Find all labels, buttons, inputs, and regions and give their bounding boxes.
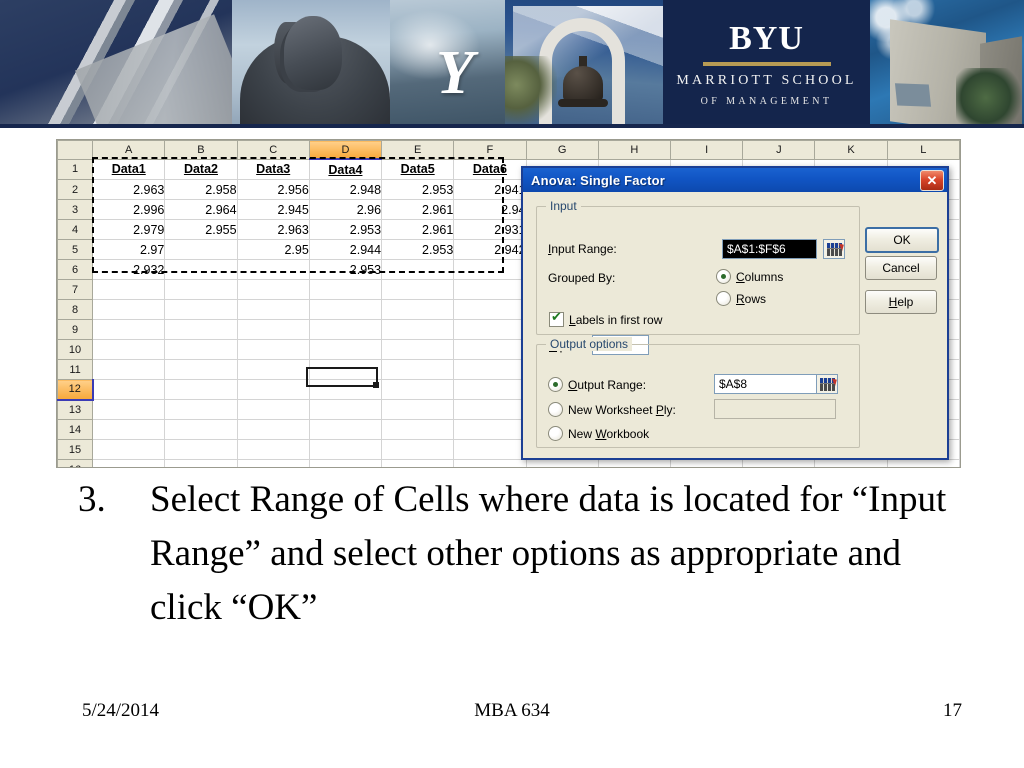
cell-D16[interactable] bbox=[309, 460, 381, 469]
cell-C13[interactable] bbox=[237, 400, 309, 420]
cell-B3[interactable]: 2.964 bbox=[165, 200, 237, 220]
cell-B10[interactable] bbox=[165, 340, 237, 360]
cell-C10[interactable] bbox=[237, 340, 309, 360]
column-header-g[interactable]: G bbox=[526, 141, 598, 160]
cell-B11[interactable] bbox=[165, 360, 237, 380]
cell-E7[interactable] bbox=[382, 280, 454, 300]
dialog-body: Input Input Range: $A$1:$F$6 Grouped By:… bbox=[523, 192, 947, 460]
cell-E9[interactable] bbox=[382, 320, 454, 340]
cell-E1[interactable]: Data5 bbox=[382, 159, 454, 180]
cell-A16[interactable] bbox=[93, 460, 165, 469]
byu-marriott-logo: BYU MARRIOTT SCHOOL OF MANAGEMENT bbox=[663, 0, 870, 128]
radio-new-worksheet-ply-label: New Worksheet Ply: bbox=[568, 403, 676, 417]
cell-C1[interactable]: Data3 bbox=[237, 159, 309, 180]
row-header-6[interactable]: 6 bbox=[58, 260, 93, 280]
y-mountain-glyph: Y bbox=[436, 42, 474, 104]
cell-B4[interactable]: 2.955 bbox=[165, 220, 237, 240]
cell-C3[interactable]: 2.945 bbox=[237, 200, 309, 220]
row-header-11[interactable]: 11 bbox=[58, 360, 93, 380]
help-button[interactable]: Help bbox=[865, 290, 937, 314]
cell-H16[interactable] bbox=[598, 460, 670, 469]
row-header-3[interactable]: 3 bbox=[58, 200, 93, 220]
cell-D15[interactable] bbox=[309, 440, 381, 460]
input-range-label: Input Range: bbox=[548, 242, 617, 256]
cell-B14[interactable] bbox=[165, 420, 237, 440]
cell-I16[interactable] bbox=[670, 460, 742, 469]
column-header-c[interactable]: C bbox=[237, 141, 309, 160]
cell-E3[interactable]: 2.961 bbox=[382, 200, 454, 220]
cell-D13[interactable] bbox=[309, 400, 381, 420]
radio-grouped-rows[interactable]: Rows bbox=[716, 291, 766, 306]
cell-E11[interactable] bbox=[382, 360, 454, 380]
statue-head-shape bbox=[284, 16, 342, 90]
footer-course: MBA 634 bbox=[0, 700, 1024, 722]
cell-D2[interactable]: 2.948 bbox=[309, 180, 381, 200]
column-header-a[interactable]: A bbox=[93, 141, 165, 160]
cell-D11[interactable] bbox=[309, 360, 381, 380]
cell-E15[interactable] bbox=[382, 440, 454, 460]
foliage bbox=[505, 56, 557, 128]
footer-page-number: 17 bbox=[943, 700, 962, 722]
cell-E12[interactable] bbox=[382, 380, 454, 400]
cell-F9[interactable] bbox=[454, 320, 526, 340]
bullet-number: 3. bbox=[78, 473, 150, 635]
new-worksheet-ply-field[interactable] bbox=[714, 399, 836, 419]
banner-photo-y-mountain: Y bbox=[390, 0, 505, 128]
cell-E2[interactable]: 2.953 bbox=[382, 180, 454, 200]
banner-bottom-rule bbox=[0, 124, 1024, 128]
cell-F1[interactable]: Data6 bbox=[454, 159, 526, 180]
bell-icon bbox=[563, 66, 603, 102]
cell-C4[interactable]: 2.963 bbox=[237, 220, 309, 240]
cell-G16[interactable] bbox=[526, 460, 598, 469]
column-header-l[interactable]: L bbox=[887, 141, 959, 160]
cell-C6[interactable] bbox=[237, 260, 309, 280]
building-window bbox=[895, 83, 931, 106]
cell-F2[interactable]: 2.941 bbox=[454, 180, 526, 200]
dialog-title-bar[interactable]: Anova: Single Factor ✕ bbox=[523, 168, 947, 192]
cell-F12[interactable] bbox=[454, 380, 526, 400]
ok-button[interactable]: OK bbox=[865, 227, 939, 253]
row-header-9[interactable]: 9 bbox=[58, 320, 93, 340]
column-header-e[interactable]: E bbox=[382, 141, 454, 160]
slide: Y BYU MARRIOTT SCHOOL OF MANAGEMENT bbox=[0, 0, 1024, 768]
cell-A15[interactable] bbox=[93, 440, 165, 460]
cell-A11[interactable] bbox=[93, 360, 165, 380]
cell-D9[interactable] bbox=[309, 320, 381, 340]
column-header-d[interactable]: D bbox=[309, 141, 381, 160]
radio-new-workbook[interactable]: New Workbook bbox=[548, 426, 649, 441]
cell-C14[interactable] bbox=[237, 420, 309, 440]
cell-C15[interactable] bbox=[237, 440, 309, 460]
cell-F14[interactable] bbox=[454, 420, 526, 440]
output-range-picker-icon[interactable] bbox=[816, 374, 838, 394]
row-header-13[interactable]: 13 bbox=[58, 400, 93, 420]
range-select-icon bbox=[820, 378, 835, 391]
radio-dot-icon bbox=[548, 402, 563, 417]
cell-E14[interactable] bbox=[382, 420, 454, 440]
cell-B9[interactable] bbox=[165, 320, 237, 340]
cell-F8[interactable] bbox=[454, 300, 526, 320]
logo-school-text: MARRIOTT SCHOOL bbox=[663, 73, 870, 90]
cell-L16[interactable] bbox=[887, 460, 959, 469]
bullet-text: Select Range of Cells where data is loca… bbox=[150, 473, 958, 635]
cell-A9[interactable] bbox=[93, 320, 165, 340]
logo-stack: BYU MARRIOTT SCHOOL OF MANAGEMENT bbox=[663, 22, 870, 107]
row-header-14[interactable]: 14 bbox=[58, 420, 93, 440]
select-all-corner[interactable] bbox=[58, 141, 93, 160]
building-tree bbox=[956, 68, 1022, 128]
row-header-15[interactable]: 15 bbox=[58, 440, 93, 460]
cell-A14[interactable] bbox=[93, 420, 165, 440]
cell-D6[interactable]: 2.953 bbox=[309, 260, 381, 280]
input-range-field[interactable]: $A$1:$F$6 bbox=[722, 239, 817, 259]
radio-grouped-columns-label: Columns bbox=[736, 270, 783, 284]
labels-in-first-row-label: Labels in first row bbox=[569, 313, 662, 327]
cell-A10[interactable] bbox=[93, 340, 165, 360]
radio-dot-icon bbox=[716, 291, 731, 306]
cell-J16[interactable] bbox=[743, 460, 815, 469]
cell-C5[interactable]: 2.95 bbox=[237, 240, 309, 260]
column-header-h[interactable]: H bbox=[598, 141, 670, 160]
input-range-picker-icon[interactable] bbox=[823, 239, 845, 259]
checkbox-check-icon bbox=[549, 312, 564, 327]
cell-B7[interactable] bbox=[165, 280, 237, 300]
cell-B13[interactable] bbox=[165, 400, 237, 420]
table-row: 16 bbox=[58, 460, 960, 469]
radio-output-range-label: Output Range: bbox=[568, 378, 646, 392]
slide-bullet: 3. Select Range of Cells where data is l… bbox=[78, 473, 958, 635]
logo-gold-rule bbox=[703, 62, 831, 66]
cell-E13[interactable] bbox=[382, 400, 454, 420]
cell-B8[interactable] bbox=[165, 300, 237, 320]
row-header-16[interactable]: 16 bbox=[58, 460, 93, 469]
cell-A8[interactable] bbox=[93, 300, 165, 320]
cell-B6[interactable] bbox=[165, 260, 237, 280]
radio-dot-icon bbox=[548, 426, 563, 441]
cell-D7[interactable] bbox=[309, 280, 381, 300]
logo-division-text: OF MANAGEMENT bbox=[663, 96, 870, 107]
banner-photo-architecture bbox=[0, 0, 232, 128]
cell-D4[interactable]: 2.953 bbox=[309, 220, 381, 240]
cell-F13[interactable] bbox=[454, 400, 526, 420]
banner-photo-campus-building bbox=[870, 0, 1024, 128]
cell-C8[interactable] bbox=[237, 300, 309, 320]
cell-D1[interactable]: Data4 bbox=[309, 159, 381, 180]
cell-A12[interactable] bbox=[93, 380, 165, 400]
cell-E10[interactable] bbox=[382, 340, 454, 360]
input-group-legend: Input bbox=[546, 199, 581, 213]
radio-dot-icon bbox=[548, 377, 563, 392]
cell-E6[interactable] bbox=[382, 260, 454, 280]
cell-D12[interactable] bbox=[309, 380, 381, 400]
cell-D3[interactable]: 2.96 bbox=[309, 200, 381, 220]
row-header-12[interactable]: 12 bbox=[58, 380, 93, 400]
radio-grouped-columns[interactable]: Columns bbox=[716, 269, 783, 284]
slide-banner: Y BYU MARRIOTT SCHOOL OF MANAGEMENT bbox=[0, 0, 1024, 128]
cell-E8[interactable] bbox=[382, 300, 454, 320]
cell-F3[interactable]: 2.94 bbox=[454, 200, 526, 220]
cell-D10[interactable] bbox=[309, 340, 381, 360]
cell-D8[interactable] bbox=[309, 300, 381, 320]
cell-D14[interactable] bbox=[309, 420, 381, 440]
column-header-f[interactable]: F bbox=[454, 141, 526, 160]
cell-A2[interactable]: 2.963 bbox=[93, 180, 165, 200]
cell-F4[interactable]: 2.931 bbox=[454, 220, 526, 240]
cell-B12[interactable] bbox=[165, 380, 237, 400]
column-header-k[interactable]: K bbox=[815, 141, 887, 160]
row-header-2[interactable]: 2 bbox=[58, 180, 93, 200]
row-header-5[interactable]: 5 bbox=[58, 240, 93, 260]
banner-photo-bell-arch bbox=[505, 0, 663, 128]
cell-C11[interactable] bbox=[237, 360, 309, 380]
column-header-i[interactable]: I bbox=[670, 141, 742, 160]
cell-F10[interactable] bbox=[454, 340, 526, 360]
cell-B16[interactable] bbox=[165, 460, 237, 469]
column-header-j[interactable]: J bbox=[743, 141, 815, 160]
cell-F5[interactable]: 2.942 bbox=[454, 240, 526, 260]
cell-A5[interactable]: 2.97 bbox=[93, 240, 165, 260]
cell-E4[interactable]: 2.961 bbox=[382, 220, 454, 240]
cell-C12[interactable] bbox=[237, 380, 309, 400]
radio-dot-icon bbox=[716, 269, 731, 284]
row-header-1[interactable]: 1 bbox=[58, 159, 93, 180]
cell-K16[interactable] bbox=[815, 460, 887, 469]
dialog-title: Anova: Single Factor bbox=[531, 173, 920, 188]
cell-A6[interactable]: 2.932 bbox=[93, 260, 165, 280]
cell-F11[interactable] bbox=[454, 360, 526, 380]
radio-new-worksheet-ply[interactable]: New Worksheet Ply: bbox=[548, 402, 676, 417]
row-header-8[interactable]: 8 bbox=[58, 300, 93, 320]
cell-B5[interactable] bbox=[165, 240, 237, 260]
column-header-row: ABCDEFGHIJKL bbox=[58, 141, 960, 160]
cell-F16[interactable] bbox=[454, 460, 526, 469]
radio-output-range[interactable]: Output Range: bbox=[548, 377, 646, 392]
cell-A1[interactable]: Data1 bbox=[93, 159, 165, 180]
cell-C9[interactable] bbox=[237, 320, 309, 340]
output-group-legend: Output options bbox=[546, 337, 632, 351]
cell-C16[interactable] bbox=[237, 460, 309, 469]
cell-F7[interactable] bbox=[454, 280, 526, 300]
cell-D5[interactable]: 2.944 bbox=[309, 240, 381, 260]
cell-B1[interactable]: Data2 bbox=[165, 159, 237, 180]
row-header-4[interactable]: 4 bbox=[58, 220, 93, 240]
cell-A7[interactable] bbox=[93, 280, 165, 300]
radio-grouped-rows-label: Rows bbox=[736, 292, 766, 306]
column-header-b[interactable]: B bbox=[165, 141, 237, 160]
cell-A4[interactable]: 2.979 bbox=[93, 220, 165, 240]
cell-E16[interactable] bbox=[382, 460, 454, 469]
close-icon[interactable]: ✕ bbox=[920, 170, 944, 191]
cell-A13[interactable] bbox=[93, 400, 165, 420]
banner-photo-brigham-young-statue bbox=[232, 0, 390, 128]
grouped-by-label: Grouped By: bbox=[548, 271, 615, 285]
cell-C7[interactable] bbox=[237, 280, 309, 300]
cell-B2[interactable]: 2.958 bbox=[165, 180, 237, 200]
cell-E5[interactable]: 2.953 bbox=[382, 240, 454, 260]
anova-single-factor-dialog[interactable]: Anova: Single Factor ✕ Input Input Range… bbox=[521, 166, 949, 460]
cell-B15[interactable] bbox=[165, 440, 237, 460]
cell-F15[interactable] bbox=[454, 440, 526, 460]
logo-byu-text: BYU bbox=[663, 22, 870, 56]
row-header-7[interactable]: 7 bbox=[58, 280, 93, 300]
labels-in-first-row-checkbox[interactable]: Labels in first row bbox=[549, 312, 662, 327]
cancel-button[interactable]: Cancel bbox=[865, 256, 937, 280]
range-select-icon bbox=[827, 243, 842, 256]
radio-new-workbook-label: New Workbook bbox=[568, 427, 649, 441]
row-header-10[interactable]: 10 bbox=[58, 340, 93, 360]
cell-C2[interactable]: 2.956 bbox=[237, 180, 309, 200]
cell-A3[interactable]: 2.996 bbox=[93, 200, 165, 220]
cell-F6[interactable] bbox=[454, 260, 526, 280]
